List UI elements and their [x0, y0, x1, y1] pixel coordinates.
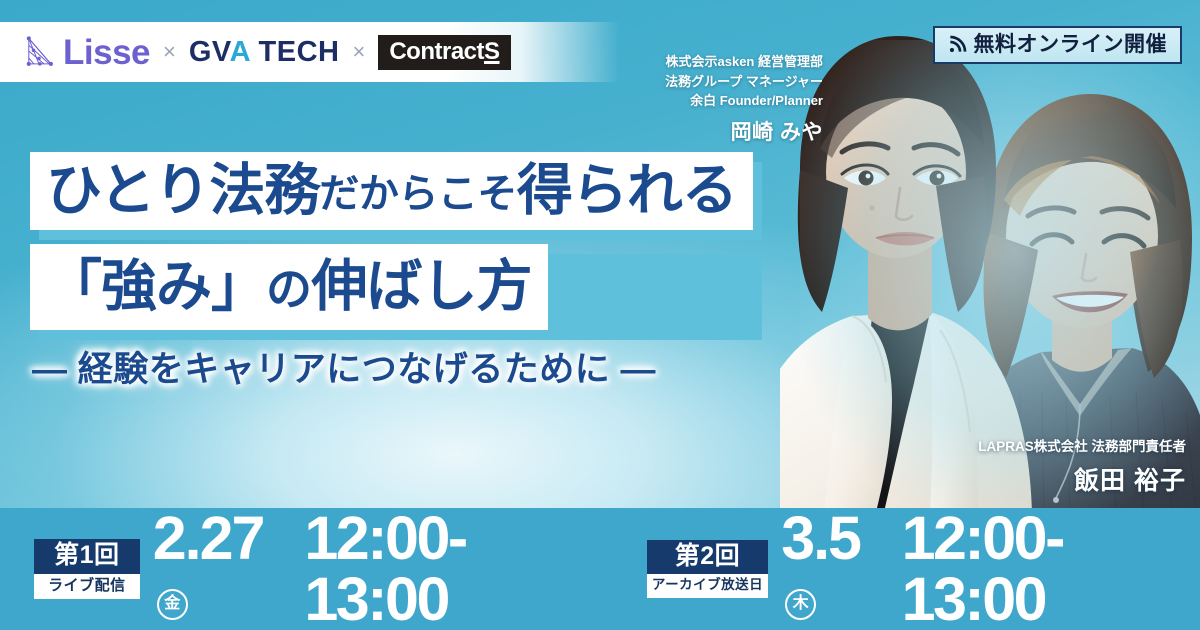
headline-row-2: 「強み」の伸ばし方	[30, 244, 753, 330]
contracts-text: Contract	[389, 40, 484, 64]
contracts-logo[interactable]: ContractS	[378, 35, 510, 70]
lisse-logo[interactable]: Lisse	[22, 35, 150, 70]
lisse-wordmark: Lisse	[63, 35, 150, 70]
headline-box-1: ひとり法務だからこそ得られる	[30, 152, 753, 230]
speaker-caption-bottom: LAPRAS株式会社 法務部門責任者 飯田 裕子	[886, 438, 1186, 497]
session-1-type: ライブ配信	[34, 574, 140, 600]
gva-accent-a: A	[230, 36, 250, 68]
gva-part-2: TECH	[250, 36, 340, 68]
speaker-bottom-name: 飯田 裕子	[886, 461, 1186, 497]
session-1-date: 2.27金	[153, 508, 298, 630]
webinar-banner: Lisse × GVA TECH × ContractS 無料オンライン開催 株…	[0, 0, 1200, 630]
logo-separator-2: ×	[352, 41, 365, 63]
session-1: 第1回 ライブ配信 2.27金 12:00-13:00	[34, 508, 603, 630]
session-2-day: 木	[785, 589, 816, 620]
speaker-top-role-line-2: 法務グループ マネージャー	[595, 72, 823, 92]
session-1-date-value: 2.27	[153, 504, 264, 572]
session-2-date-value: 3.5	[781, 504, 860, 572]
gva-tech-logo[interactable]: GVA TECH	[189, 38, 340, 67]
session-2-number: 第2回	[647, 540, 768, 575]
rss-broadcast-icon	[948, 35, 967, 54]
session-2-date: 3.5木	[781, 508, 894, 630]
session-1-badge: 第1回 ライブ配信	[34, 539, 140, 599]
speaker-top-name: 岡崎 みや	[595, 116, 823, 146]
gva-part-1: GV	[189, 36, 230, 68]
partner-logo-strip: Lisse × GVA TECH × ContractS	[0, 22, 620, 82]
session-1-number: 第1回	[34, 539, 140, 574]
session-1-day: 金	[157, 589, 188, 620]
speaker-top-role-line-1: 株式会示asken 経営管理部	[595, 52, 823, 72]
headline-row-1: ひとり法務だからこそ得られる	[30, 152, 753, 230]
session-2-badge: 第2回 アーカイブ放送日	[647, 540, 768, 598]
speaker-top-role-line-3: 余白 Founder/Planner	[595, 91, 823, 111]
headline: ひとり法務だからこそ得られる 「強み」の伸ばし方	[30, 152, 753, 344]
headline-line1-part3: 得られる	[517, 158, 737, 221]
headline-box-2: 「強み」の伸ばし方	[30, 244, 548, 330]
subtitle: — 経験をキャリアにつなげるために —	[32, 352, 656, 387]
session-date-bar: 第1回 ライブ配信 2.27金 12:00-13:00 第2回 アーカイブ放送日…	[0, 508, 1200, 630]
lisse-mark-icon	[22, 35, 56, 69]
headline-line2-part1: 「強み」	[46, 254, 266, 317]
session-2-type: アーカイブ放送日	[647, 574, 768, 598]
free-online-event-badge: 無料オンライン開催	[933, 26, 1183, 64]
session-2-time: 12:00-13:00	[902, 508, 1200, 630]
speaker-photos	[780, 0, 1200, 512]
session-2: 第2回 アーカイブ放送日 3.5木 12:00-13:00	[647, 508, 1200, 630]
headline-line2-part3: 伸ばし方	[312, 254, 532, 317]
speaker-caption-top: 株式会示asken 経営管理部 法務グループ マネージャー 余白 Founder…	[595, 52, 823, 146]
headline-line1-part2: だからこそ	[319, 172, 517, 216]
badge-label: 無料オンライン開催	[974, 34, 1168, 55]
speaker-bottom-role: LAPRAS株式会社 法務部門責任者	[886, 438, 1186, 457]
headline-line2-part2: の	[266, 263, 312, 315]
session-1-time: 12:00-13:00	[304, 508, 602, 630]
logo-separator-1: ×	[163, 41, 176, 63]
contracts-text-underlined: S	[484, 40, 500, 64]
headline-line1-part1: ひとり法務	[46, 158, 319, 221]
